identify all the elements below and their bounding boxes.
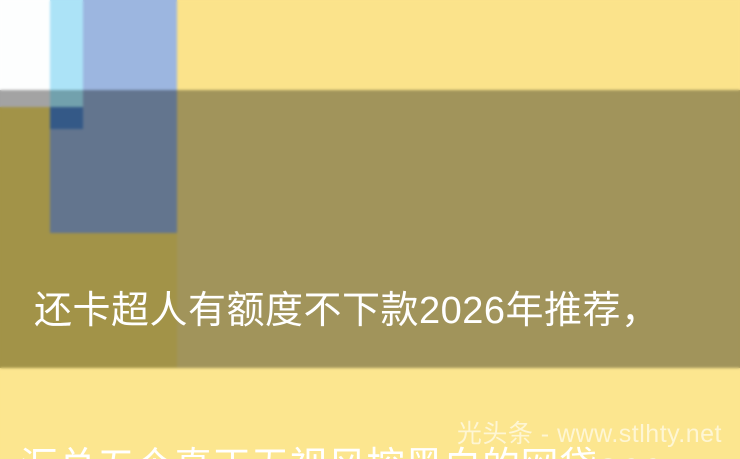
headline-line-1: 还卡超人有额度不下款2026年推荐，: [34, 285, 734, 337]
decorative-periwinkle-strip: [83, 0, 177, 90]
headline-text: 还卡超人有额度不下款2026年推荐， 汇总五个真正无视风控黑白的网贷app: [34, 181, 734, 459]
cover-image-canvas: 还卡超人有额度不下款2026年推荐， 汇总五个真正无视风控黑白的网贷app 光头…: [0, 0, 740, 459]
decorative-dark-blue-notch: [50, 107, 83, 129]
decorative-teal-notch: [50, 90, 83, 107]
site-watermark: 光头条 - www.stlhty.net: [457, 419, 722, 449]
background-yellow-top: [177, 0, 740, 90]
